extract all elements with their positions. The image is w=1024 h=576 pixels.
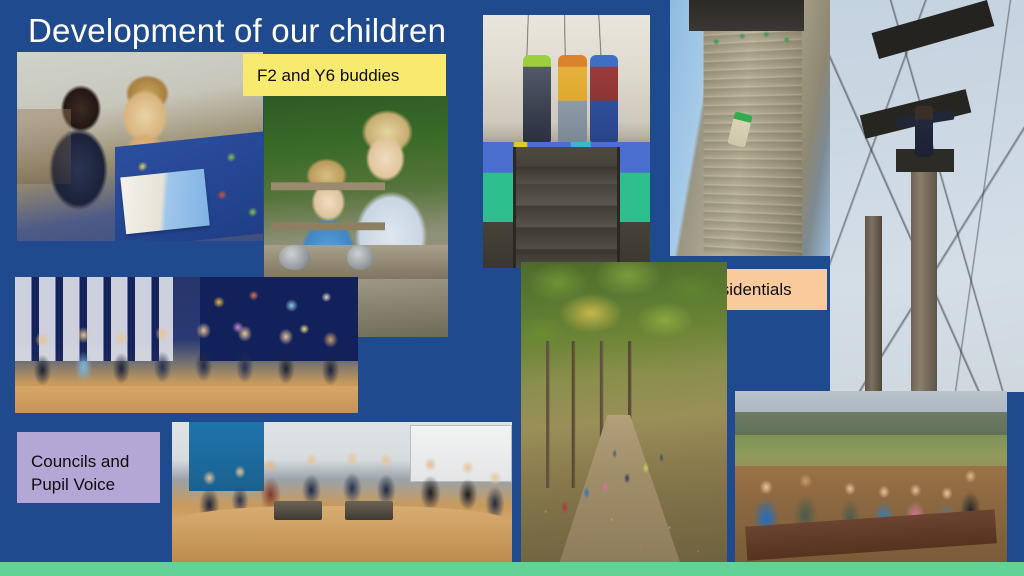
classroom-shelf bbox=[17, 109, 71, 185]
climber-orange-helmet bbox=[558, 55, 586, 141]
classroom-table bbox=[15, 386, 358, 413]
label-f2-y6-buddies: F2 and Y6 buddies bbox=[243, 54, 446, 96]
crate-tower bbox=[513, 147, 620, 268]
photo-woodland-walk[interactable] bbox=[521, 262, 727, 567]
photo-school-council-group[interactable] bbox=[15, 277, 358, 413]
laptop-right bbox=[345, 501, 393, 520]
open-book bbox=[120, 169, 209, 234]
meeting-table bbox=[172, 506, 512, 566]
metal-pan-second bbox=[347, 245, 375, 269]
climber-green-helmet bbox=[523, 55, 551, 141]
photo-high-ropes-pole-image bbox=[830, 0, 1024, 392]
photo-hillside-bench[interactable] bbox=[735, 391, 1007, 562]
photo-council-meeting[interactable] bbox=[172, 422, 512, 566]
wooden-fence bbox=[271, 168, 385, 255]
laptop-left bbox=[274, 501, 322, 520]
label-councils-pupil-voice: Councils and Pupil Voice bbox=[17, 432, 160, 503]
fallen-leaves bbox=[521, 488, 727, 567]
presentation-slide: Development of our children F2 and Y6 bu… bbox=[0, 0, 1024, 576]
photo-reading-buddies-image bbox=[17, 52, 263, 241]
photo-woodland-walk-image bbox=[521, 262, 727, 567]
photo-abseil-tower[interactable] bbox=[670, 0, 830, 256]
label-f2-y6-buddies-text: F2 and Y6 buddies bbox=[257, 64, 399, 87]
label-councils-line-2: Pupil Voice bbox=[31, 473, 115, 496]
photo-crate-stacking-image bbox=[483, 15, 650, 268]
photo-abseil-tower-image bbox=[670, 0, 830, 256]
secondary-pole bbox=[865, 216, 882, 392]
page-title: Development of our children bbox=[28, 11, 446, 51]
tower-top-group bbox=[705, 20, 798, 56]
bottom-accent-strip bbox=[0, 562, 1024, 576]
photo-school-council-group-image bbox=[15, 277, 358, 413]
metal-pan bbox=[279, 245, 310, 269]
main-pole bbox=[911, 165, 936, 392]
pupil-on-pole bbox=[915, 106, 932, 157]
label-councils-line-1: Councils and bbox=[31, 450, 129, 473]
photo-high-ropes-pole[interactable] bbox=[830, 0, 1024, 392]
photo-council-meeting-image bbox=[172, 422, 512, 566]
photo-hillside-bench-image bbox=[735, 391, 1007, 562]
photo-crate-stacking[interactable] bbox=[483, 15, 650, 268]
photo-reading-buddies[interactable] bbox=[17, 52, 263, 241]
climber-blue-helmet bbox=[590, 55, 618, 141]
